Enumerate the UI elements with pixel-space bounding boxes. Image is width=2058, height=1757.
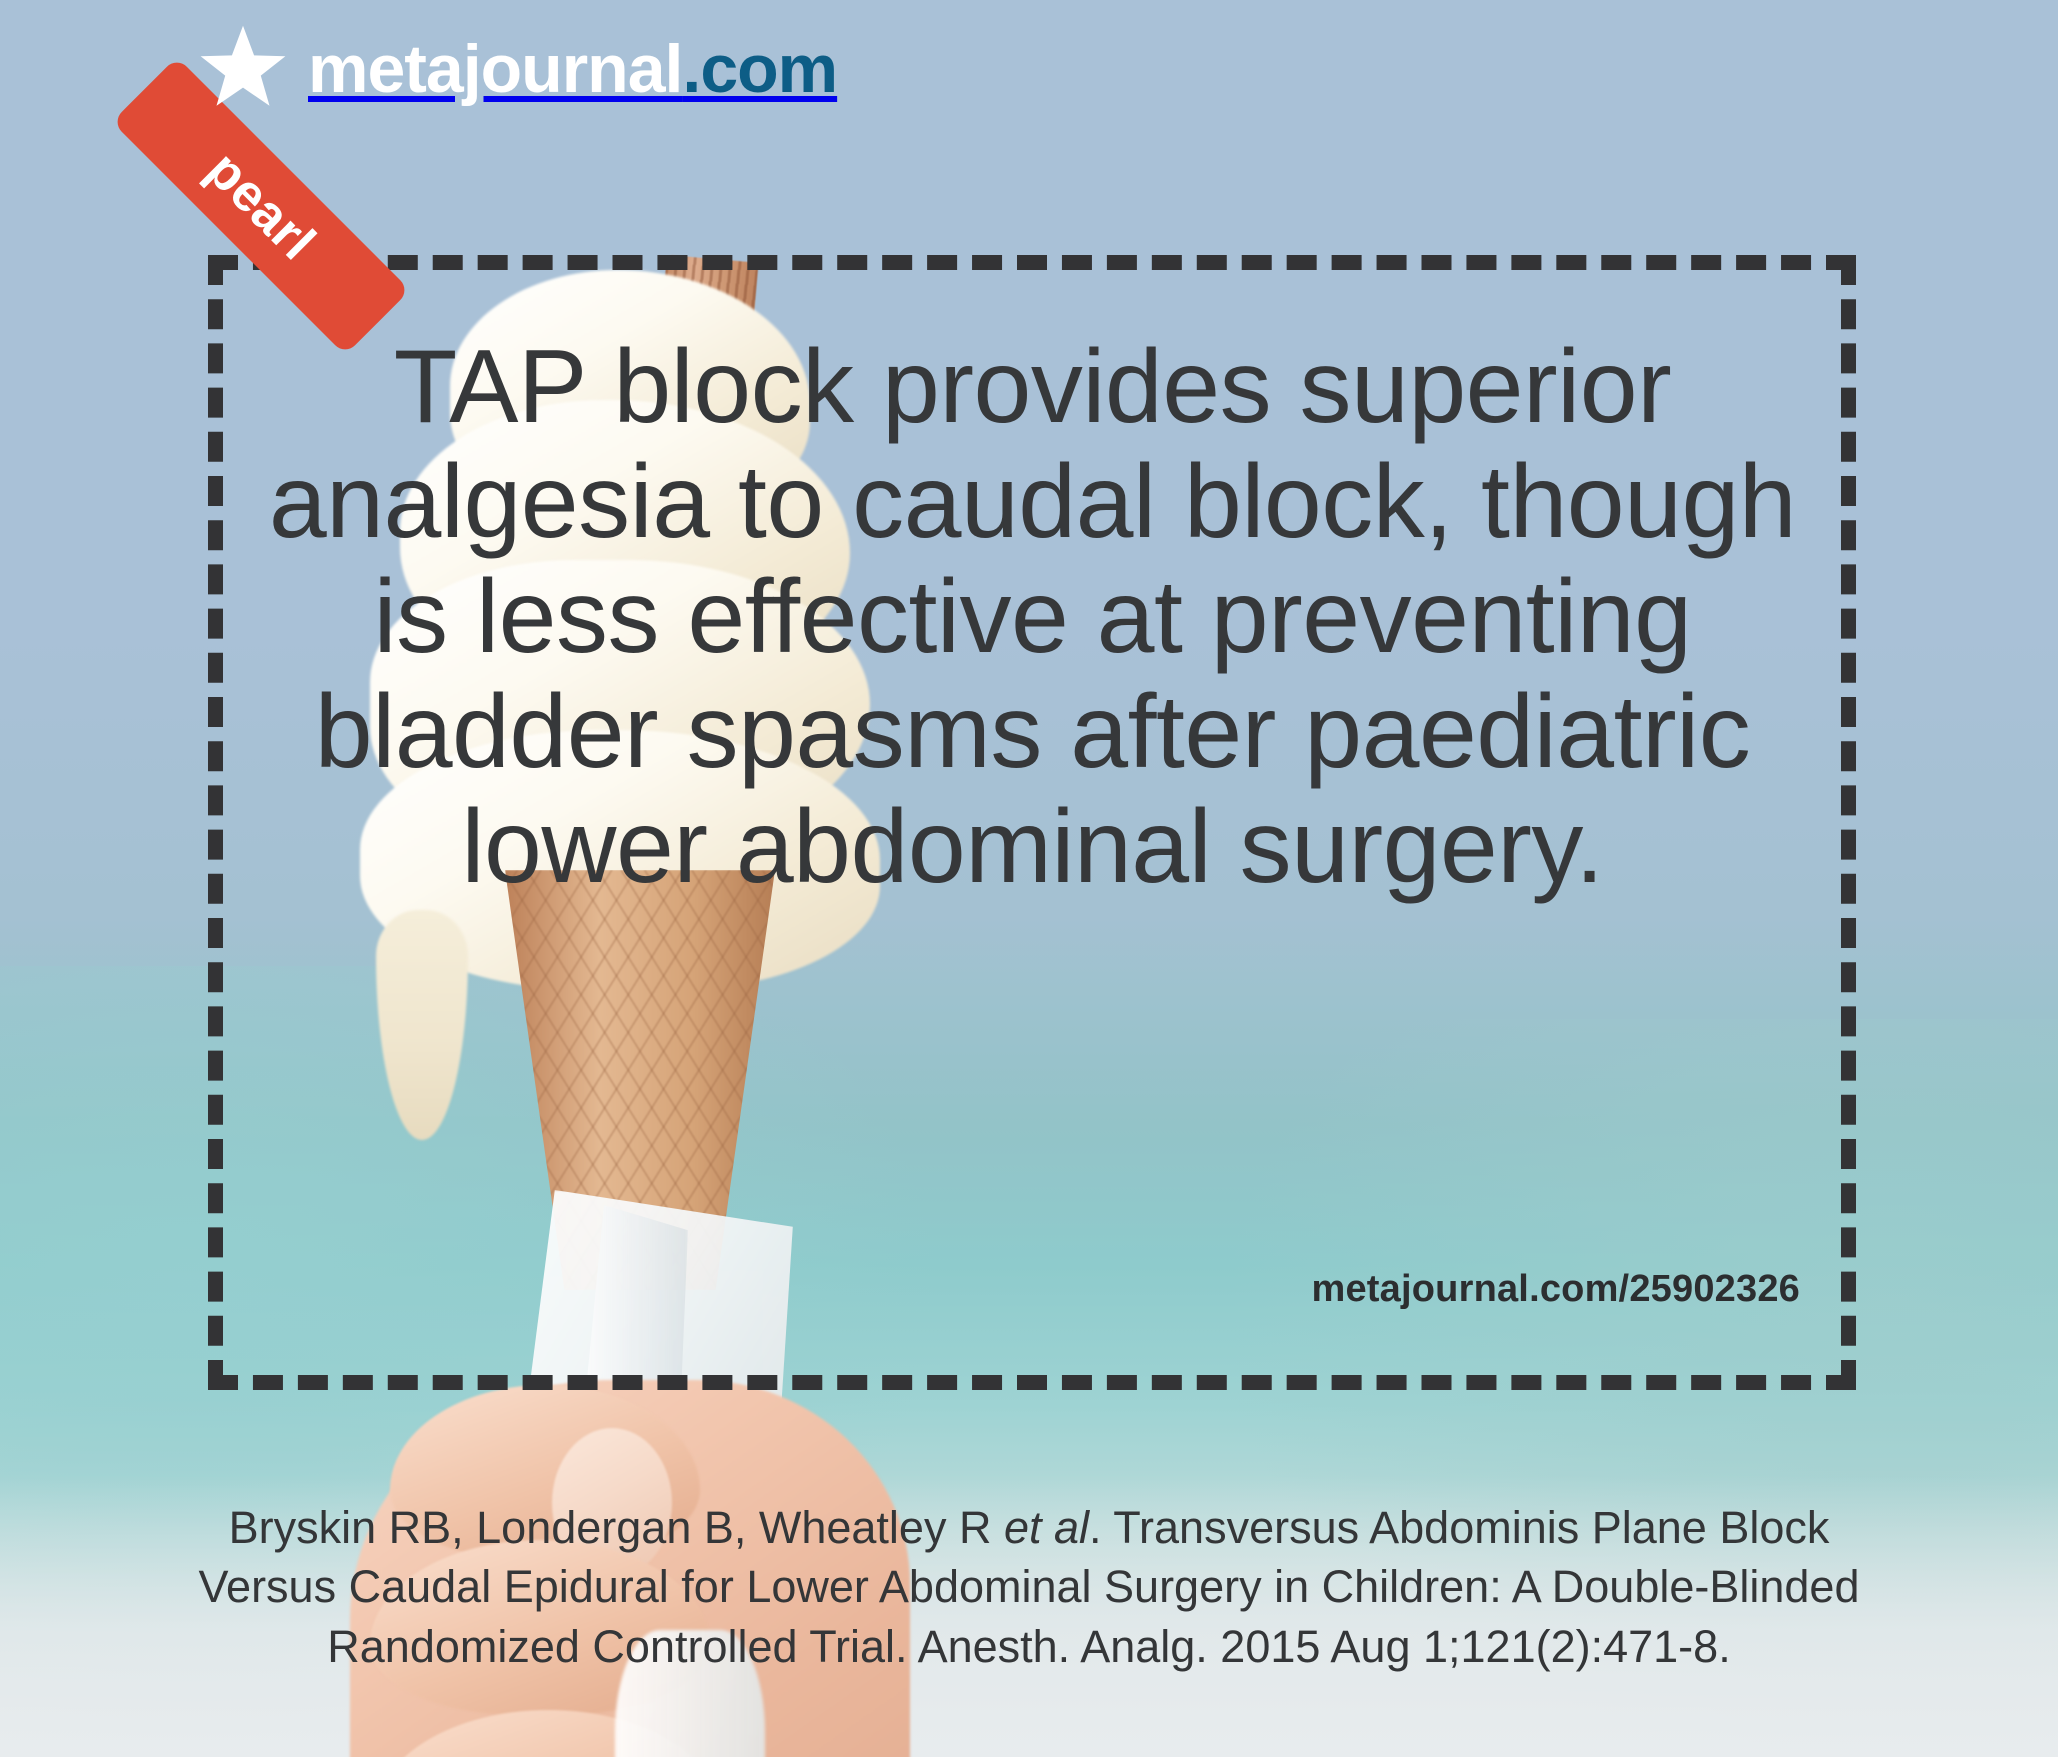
site-logo[interactable]: metajournal.com — [196, 22, 837, 116]
pearl-card: metajournal.com pearl TAP block provides… — [0, 0, 2058, 1757]
citation-etal: et al — [1004, 1502, 1089, 1553]
citation: Bryskin RB, Londergan B, Wheatley R et a… — [170, 1498, 1888, 1676]
star-icon — [196, 22, 290, 116]
pearl-statement: TAP block provides superior analgesia to… — [260, 330, 1805, 905]
citation-authors: Bryskin RB, Londergan B, Wheatley R — [229, 1502, 1004, 1553]
logo-name: metajournal — [308, 31, 682, 107]
logo-wordmark: metajournal.com — [308, 35, 837, 103]
logo-tld: .com — [682, 31, 837, 107]
pearl-short-url[interactable]: metajournal.com/25902326 — [1311, 1268, 1800, 1311]
